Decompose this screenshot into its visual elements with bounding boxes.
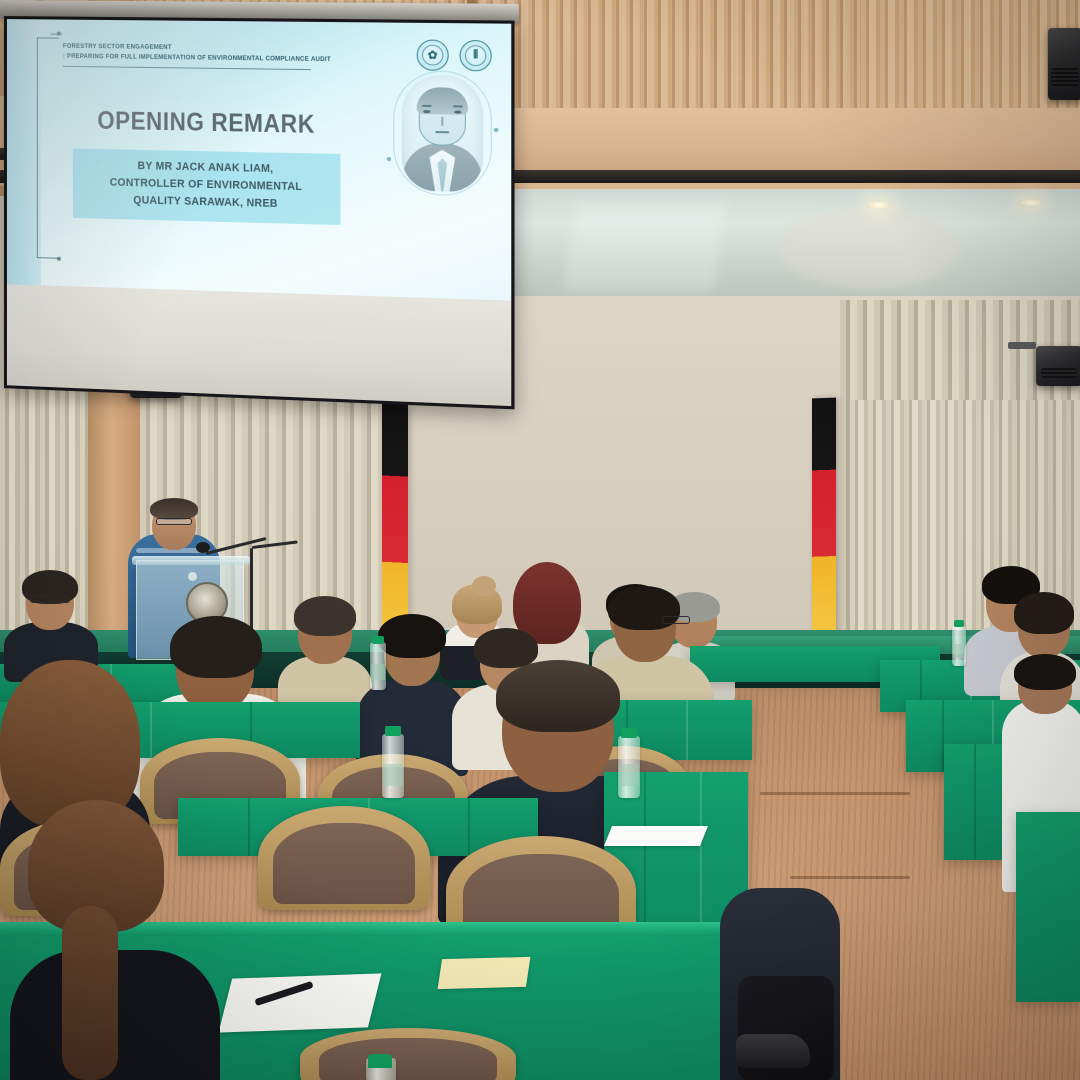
screen-blank-area	[7, 284, 511, 409]
slide-byline-box: BY MR JACK ANAK LIAM, CONTROLLER OF ENVI…	[73, 148, 340, 225]
bottle-cap-4	[621, 728, 637, 738]
attendee-left-eyeglasses	[30, 596, 70, 603]
presenter-eyeglasses	[156, 518, 192, 525]
table-right-4	[1016, 812, 1080, 1002]
slide-footnote	[65, 243, 269, 269]
bottle-cap-1	[372, 636, 384, 644]
attendee-hair-bun	[472, 576, 496, 596]
mineral-water-bottle-2	[952, 626, 966, 666]
bottle-cap-2	[954, 620, 964, 627]
note-paper-secondary	[604, 826, 708, 846]
slide-title: OPENING REMARK	[71, 106, 343, 140]
slide-logo-left-glyph: ✿	[418, 48, 448, 62]
conference-hall-photo: FORESTRY SECTOR ENGAGEMENT : PREPARING F…	[0, 0, 1080, 1080]
portrait-dot-left	[387, 157, 391, 161]
shoe	[736, 1034, 810, 1068]
slide-dot-top	[57, 32, 61, 36]
chair-front-a	[258, 806, 430, 910]
chair-front-foremost	[300, 1028, 516, 1080]
slide-logo-right: ⦀	[459, 40, 491, 72]
bottle-cap-5	[368, 1054, 392, 1068]
attendee-tan-eyeglasses	[662, 616, 690, 624]
slide-left-accent-bar	[7, 19, 41, 285]
floor-seam-2	[790, 876, 910, 879]
attendee-ponytail-foreground	[10, 800, 220, 1080]
yellow-name-card	[438, 957, 531, 989]
bottle-cap-3	[385, 726, 401, 736]
slide-kicker-rule	[63, 66, 311, 71]
mineral-water-bottle-1	[370, 642, 386, 690]
microphone-capsule	[196, 542, 210, 553]
mineral-water-bottle-3	[382, 734, 404, 798]
portrait-dot-right	[494, 128, 498, 132]
floor-seam-1	[760, 792, 910, 795]
slide-dot-bottom	[57, 257, 61, 261]
presentation-slide: FORESTRY SECTOR ENGAGEMENT : PREPARING F…	[7, 19, 511, 301]
slide-corner-frame	[37, 37, 59, 258]
wall-speaker-right	[1036, 346, 1080, 386]
slide-logo-right-glyph: ⦀	[461, 49, 491, 63]
downlight-4	[1018, 198, 1044, 208]
ponytail	[62, 906, 118, 1080]
mineral-water-bottle-4	[618, 736, 640, 798]
ceiling-speaker-upper-right	[1048, 28, 1080, 100]
speaker-portrait-illustration	[402, 74, 483, 192]
speaker-bracket-right	[1008, 342, 1036, 349]
slide-logo-left: ✿	[417, 39, 449, 71]
sarawak-flag-left	[382, 403, 408, 644]
sarawak-flag-right	[812, 398, 836, 639]
note-paper	[219, 973, 382, 1032]
slide-kicker: FORESTRY SECTOR ENGAGEMENT : PREPARING F…	[63, 42, 376, 66]
downlight-3	[866, 200, 892, 210]
lectern-top-edge	[132, 556, 250, 565]
projector-screen: FORESTRY SECTOR ENGAGEMENT : PREPARING F…	[0, 0, 519, 412]
screen-surface: FORESTRY SECTOR ENGAGEMENT : PREPARING F…	[4, 16, 515, 409]
